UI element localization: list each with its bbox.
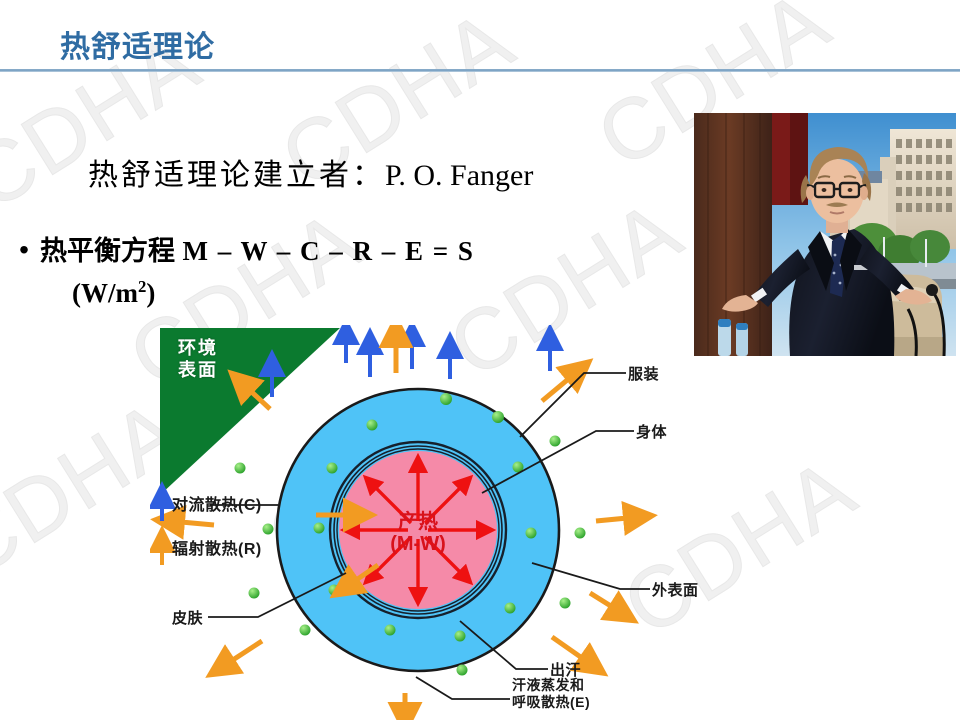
callout-skin-label: 皮肤 [172,607,203,628]
bullet-marker: • [8,232,40,268]
bullet-equation: M – W – C – R – E = S [183,236,475,266]
callout-evaporation-label-line2: 呼吸散热(E) [512,694,590,711]
callout-clothing-label: 服装 [628,363,659,384]
speaker-photo-image [694,113,956,356]
center-label-line1: 产热 [398,509,438,533]
environment-surface-label-line1: 环境 [178,337,218,359]
callout-evaporation-label-line1: 汗液蒸发和 [512,677,590,694]
callout-outer-surface-label: 外表面 [652,579,699,600]
bullet-text: 热平衡方程 M – W – C – R – E = S (W/m2) [40,232,474,310]
legend-convection: 对流散热(C) [172,491,262,515]
bullet-row: • 热平衡方程 M – W – C – R – E = S (W/m2) [8,232,648,310]
subtitle: 热舒适理论建立者：P. O. Fanger [88,150,533,194]
bullet-unit: (W/m2) [72,270,474,310]
header-divider [0,69,960,72]
callout-body-label: 身体 [636,421,667,442]
thermal-diagram: 产热 (M-W) [150,325,810,720]
environment-surface-label-line2: 表面 [178,359,218,381]
speaker-photo [694,113,956,356]
bullet-block: • 热平衡方程 M – W – C – R – E = S (W/m2) [8,232,648,310]
legend-radiation: 辐射散热(R) [172,535,262,559]
center-label-line2: (M-W) [390,533,446,555]
page-title: 热舒适理论 [60,22,215,66]
thermal-diagram-svg: 产热 (M-W) [150,325,810,720]
legend-radiation-label: 辐射散热(R) [172,535,262,559]
bullet-label: 热平衡方程 [40,236,175,266]
bullet-unit-suffix: ) [146,278,155,308]
subtitle-cn: 热舒适理论建立者： [88,159,385,192]
subtitle-name: P. O. Fanger [385,159,533,192]
environment-surface-label: 环境 表面 [178,337,218,381]
bullet-unit-prefix: (W/m [72,278,138,308]
legend-convection-label: 对流散热(C) [172,491,262,515]
callout-evaporation-label: 汗液蒸发和 呼吸散热(E) [512,677,590,711]
slide-header: 热舒适理论 [0,0,960,72]
